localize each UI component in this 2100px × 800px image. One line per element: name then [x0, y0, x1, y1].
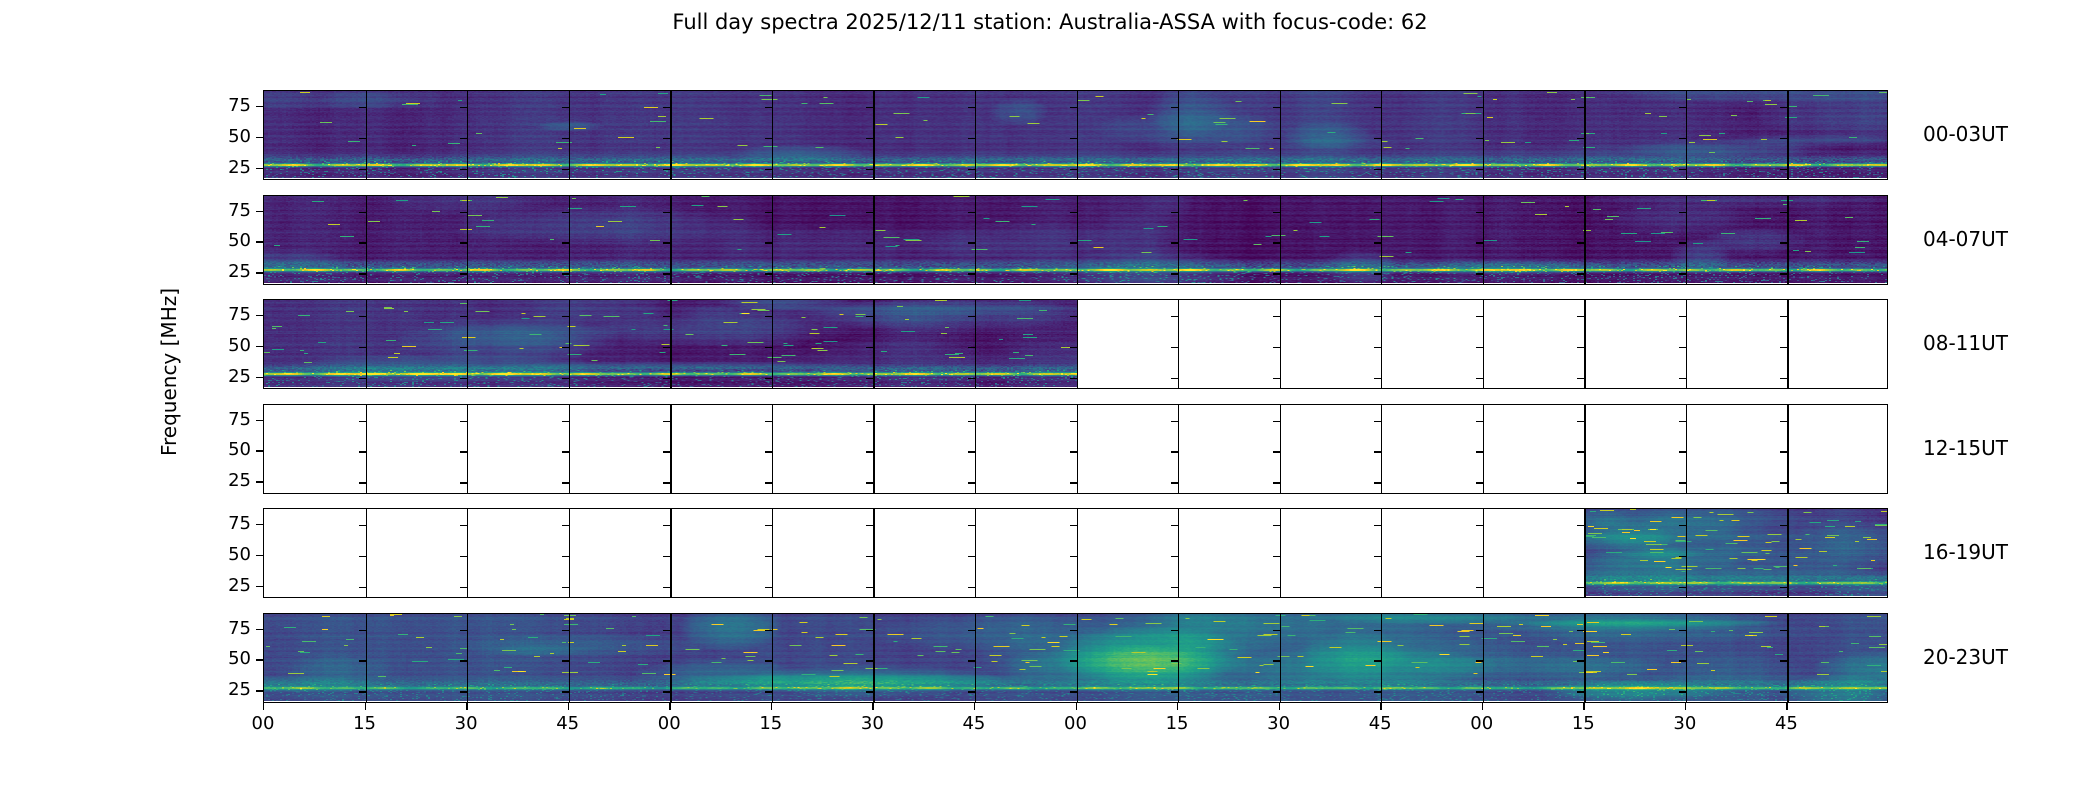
- y-tick-mark-inner: [460, 169, 467, 170]
- y-tick-label: 50: [201, 335, 251, 356]
- y-tick-mark-inner: [663, 525, 670, 526]
- y-tick-mark-inner: [866, 421, 873, 422]
- y-tick-mark: [256, 272, 263, 273]
- panel-separator: [670, 405, 671, 493]
- y-tick-mark-inner: [968, 556, 975, 557]
- y-tick-mark-inner: [765, 660, 772, 661]
- y-tick-mark-inner: [1374, 482, 1381, 483]
- spectrogram-row-04-07ut[interactable]: [263, 195, 1888, 285]
- y-tick-mark: [256, 629, 263, 630]
- y-tick-mark-inner: [1679, 660, 1686, 661]
- y-tick-mark-inner: [359, 273, 366, 274]
- panel-separator: [772, 509, 773, 597]
- y-tick-mark-inner: [866, 451, 873, 452]
- y-tick-mark-inner: [765, 378, 772, 379]
- y-tick-mark-inner: [1679, 378, 1686, 379]
- panel-separator: [1381, 196, 1382, 284]
- y-tick-mark-inner: [562, 242, 569, 243]
- panel-separator: [467, 91, 468, 179]
- y-tick-mark-inner: [359, 482, 366, 483]
- y-tick-mark-inner: [359, 316, 366, 317]
- x-tick-mark: [974, 703, 975, 710]
- panel-separator: [1280, 91, 1281, 179]
- panel-separator: [467, 509, 468, 597]
- y-tick-mark-inner: [1273, 347, 1280, 348]
- y-tick-mark-inner: [562, 525, 569, 526]
- y-tick-mark-inner: [1679, 587, 1686, 588]
- y-tick-mark-inner: [765, 556, 772, 557]
- y-tick-mark-inner: [1679, 169, 1686, 170]
- panel-separator: [569, 614, 570, 702]
- y-tick-mark-inner: [866, 378, 873, 379]
- y-tick-label: 75: [201, 618, 251, 639]
- y-tick-mark-inner: [1577, 421, 1584, 422]
- y-tick-mark-inner: [968, 273, 975, 274]
- y-tick-mark-inner: [866, 482, 873, 483]
- panel-separator: [1686, 91, 1687, 179]
- panel-separator: [975, 91, 976, 179]
- y-tick-mark-inner: [460, 630, 467, 631]
- panel-separator: [975, 509, 976, 597]
- y-tick-mark-inner: [1273, 138, 1280, 139]
- x-tick-label: 00: [233, 713, 293, 734]
- y-tick-mark-inner: [562, 347, 569, 348]
- panel-separator: [467, 196, 468, 284]
- panel-separator: [569, 300, 570, 388]
- y-tick-mark-inner: [1171, 138, 1178, 139]
- y-tick-mark-inner: [1780, 242, 1787, 243]
- x-tick-label: 45: [538, 713, 598, 734]
- y-tick-mark-inner: [968, 378, 975, 379]
- panel-separator: [873, 614, 874, 702]
- panel-separator: [1280, 614, 1281, 702]
- y-tick-mark-inner: [1171, 691, 1178, 692]
- y-tick-mark-inner: [1374, 273, 1381, 274]
- panel-separator: [1483, 91, 1484, 179]
- y-tick-mark-inner: [663, 556, 670, 557]
- y-tick-mark-inner: [1070, 587, 1077, 588]
- y-tick-mark-inner: [1171, 630, 1178, 631]
- panel-separator: [1381, 509, 1382, 597]
- y-tick-mark-inner: [866, 107, 873, 108]
- panel-separator: [1178, 405, 1179, 493]
- spectrogram-row-20-23ut[interactable]: [263, 613, 1888, 703]
- y-tick-mark-inner: [460, 587, 467, 588]
- y-tick-mark-inner: [663, 378, 670, 379]
- panel-separator: [1686, 509, 1687, 597]
- panel-separator: [1787, 614, 1788, 702]
- y-tick-label: 25: [201, 157, 251, 178]
- row-label-20-23ut: 20-23UT: [1923, 645, 2008, 669]
- y-tick-mark: [256, 106, 263, 107]
- y-tick-mark-inner: [1273, 242, 1280, 243]
- panel-separator: [670, 509, 671, 597]
- x-tick-label: 15: [1553, 713, 1613, 734]
- y-tick-mark-inner: [562, 378, 569, 379]
- x-tick-mark: [1482, 703, 1483, 710]
- panel-separator: [1584, 196, 1585, 284]
- panel-separator: [873, 91, 874, 179]
- y-tick-mark-inner: [1476, 691, 1483, 692]
- panel-separator: [873, 405, 874, 493]
- y-tick-mark-inner: [1374, 347, 1381, 348]
- y-tick-mark-inner: [1476, 107, 1483, 108]
- panel-separator: [1787, 405, 1788, 493]
- y-tick-mark-inner: [1780, 630, 1787, 631]
- y-tick-mark-inner: [866, 587, 873, 588]
- y-tick-mark-inner: [1374, 107, 1381, 108]
- y-tick-mark-inner: [460, 421, 467, 422]
- plot-area[interactable]: [263, 613, 1888, 703]
- y-tick-mark-inner: [1577, 138, 1584, 139]
- y-tick-mark-inner: [1476, 169, 1483, 170]
- y-tick-mark-inner: [1780, 587, 1787, 588]
- y-tick-mark-inner: [1070, 212, 1077, 213]
- plot-area[interactable]: [263, 299, 1888, 389]
- y-tick-mark-inner: [1476, 556, 1483, 557]
- y-tick-mark-inner: [765, 273, 772, 274]
- panel-separator: [1077, 300, 1078, 388]
- y-tick-mark-inner: [359, 660, 366, 661]
- y-tick-mark: [256, 659, 263, 660]
- y-tick-mark-inner: [1476, 525, 1483, 526]
- y-tick-mark-inner: [1577, 525, 1584, 526]
- panel-separator: [772, 300, 773, 388]
- x-tick-mark: [568, 703, 569, 710]
- plot-area[interactable]: [263, 195, 1888, 285]
- panel-separator: [1686, 405, 1687, 493]
- y-tick-mark-inner: [1374, 169, 1381, 170]
- y-tick-mark-inner: [968, 587, 975, 588]
- y-tick-mark-inner: [460, 107, 467, 108]
- y-tick-mark-inner: [1171, 378, 1178, 379]
- panel-separator: [1280, 509, 1281, 597]
- y-tick-mark-inner: [968, 482, 975, 483]
- y-tick-mark-inner: [1171, 242, 1178, 243]
- y-tick-mark-inner: [1273, 169, 1280, 170]
- y-tick-mark-inner: [1070, 138, 1077, 139]
- y-tick-mark-inner: [1577, 212, 1584, 213]
- x-tick-label: 30: [1249, 713, 1309, 734]
- y-tick-mark-inner: [1070, 421, 1077, 422]
- row-label-16-19ut: 16-19UT: [1923, 540, 2008, 564]
- y-tick-mark-inner: [1273, 587, 1280, 588]
- y-tick-mark-inner: [1070, 630, 1077, 631]
- y-tick-mark-inner: [968, 660, 975, 661]
- panel-separator: [1381, 614, 1382, 702]
- panel-separator: [1280, 196, 1281, 284]
- panel-separator: [1483, 196, 1484, 284]
- y-tick-mark-inner: [1577, 587, 1584, 588]
- y-tick-label: 25: [201, 366, 251, 387]
- y-tick-mark-inner: [562, 138, 569, 139]
- panel-separator: [1483, 614, 1484, 702]
- y-tick-mark-inner: [866, 691, 873, 692]
- y-tick-mark-inner: [663, 482, 670, 483]
- y-tick-mark-inner: [359, 525, 366, 526]
- plot-area[interactable]: [263, 90, 1888, 180]
- y-tick-mark-inner: [1476, 347, 1483, 348]
- y-tick-mark-inner: [562, 421, 569, 422]
- y-tick-mark-inner: [562, 556, 569, 557]
- x-tick-label: 00: [1452, 713, 1512, 734]
- y-tick-label: 25: [201, 470, 251, 491]
- y-tick-mark-inner: [968, 107, 975, 108]
- y-tick-mark-inner: [1273, 556, 1280, 557]
- y-tick-mark-inner: [359, 630, 366, 631]
- y-tick-mark-inner: [460, 451, 467, 452]
- y-tick-label: 75: [201, 200, 251, 221]
- y-tick-mark-inner: [562, 169, 569, 170]
- y-tick-mark-inner: [1374, 691, 1381, 692]
- x-tick-mark: [1786, 703, 1787, 710]
- y-tick-mark-inner: [1273, 378, 1280, 379]
- y-tick-mark: [256, 168, 263, 169]
- y-tick-mark-inner: [663, 107, 670, 108]
- panel-separator: [975, 196, 976, 284]
- y-tick-mark-inner: [1577, 630, 1584, 631]
- panel-separator: [772, 196, 773, 284]
- y-tick-mark-inner: [1171, 107, 1178, 108]
- y-tick-mark-inner: [1476, 212, 1483, 213]
- panel-separator: [569, 509, 570, 597]
- panel-separator: [1584, 614, 1585, 702]
- x-tick-label: 00: [639, 713, 699, 734]
- y-tick-mark: [256, 315, 263, 316]
- spectrogram-row-08-11ut[interactable]: [263, 299, 1888, 389]
- panel-separator: [1178, 509, 1179, 597]
- y-tick-label: 50: [201, 126, 251, 147]
- y-tick-mark-inner: [460, 138, 467, 139]
- spectrogram-row-12-15ut[interactable]: [263, 404, 1888, 494]
- panel-separator: [1686, 196, 1687, 284]
- y-tick-mark-inner: [359, 242, 366, 243]
- y-tick-mark-inner: [460, 316, 467, 317]
- x-tick-label: 15: [335, 713, 395, 734]
- y-tick-label: 75: [201, 95, 251, 116]
- y-tick-mark-inner: [1679, 107, 1686, 108]
- plot-area[interactable]: [263, 508, 1888, 598]
- y-tick-mark-inner: [1374, 556, 1381, 557]
- y-tick-label: 50: [201, 439, 251, 460]
- y-axis-label: Frequency [MHz]: [157, 272, 181, 472]
- y-tick-mark-inner: [562, 316, 569, 317]
- y-tick-mark-inner: [1273, 630, 1280, 631]
- y-tick-mark-inner: [1476, 660, 1483, 661]
- y-tick-mark-inner: [1070, 378, 1077, 379]
- y-tick-mark-inner: [1273, 691, 1280, 692]
- y-tick-label: 75: [201, 304, 251, 325]
- y-tick-mark-inner: [1070, 347, 1077, 348]
- panel-separator: [1280, 405, 1281, 493]
- panel-separator: [1077, 614, 1078, 702]
- y-tick-mark-inner: [1780, 482, 1787, 483]
- spectrogram-image: [1584, 509, 1888, 596]
- x-tick-mark: [1076, 703, 1077, 710]
- spectrogram-row-16-19ut[interactable]: [263, 508, 1888, 598]
- y-tick-mark-inner: [866, 242, 873, 243]
- y-tick-mark-inner: [1070, 691, 1077, 692]
- y-tick-mark-inner: [1679, 242, 1686, 243]
- y-tick-mark-inner: [562, 691, 569, 692]
- y-tick-mark-inner: [1780, 378, 1787, 379]
- x-tick-mark: [365, 703, 366, 710]
- y-tick-mark-inner: [765, 525, 772, 526]
- panel-separator: [1280, 300, 1281, 388]
- y-tick-mark-inner: [866, 273, 873, 274]
- y-tick-mark-inner: [1171, 482, 1178, 483]
- y-tick-mark-inner: [1273, 316, 1280, 317]
- y-tick-label: 75: [201, 409, 251, 430]
- panel-separator: [975, 614, 976, 702]
- panel-separator: [1077, 509, 1078, 597]
- y-tick-mark-inner: [1679, 212, 1686, 213]
- x-tick-label: 45: [1350, 713, 1410, 734]
- y-tick-mark-inner: [1476, 482, 1483, 483]
- panel-separator: [1178, 196, 1179, 284]
- panel-separator: [1787, 196, 1788, 284]
- y-tick-mark-inner: [1070, 556, 1077, 557]
- y-tick-mark-inner: [765, 107, 772, 108]
- y-tick-mark-inner: [1171, 660, 1178, 661]
- plot-area[interactable]: [263, 404, 1888, 494]
- x-tick-mark: [1685, 703, 1686, 710]
- y-tick-mark: [256, 420, 263, 421]
- y-tick-mark-inner: [765, 242, 772, 243]
- panel-separator: [1178, 91, 1179, 179]
- y-tick-mark: [256, 137, 263, 138]
- y-tick-mark-inner: [765, 347, 772, 348]
- y-tick-mark-inner: [1679, 316, 1686, 317]
- y-tick-mark-inner: [359, 347, 366, 348]
- y-tick-label: 25: [201, 261, 251, 282]
- y-tick-mark-inner: [1273, 273, 1280, 274]
- y-tick-mark-inner: [1476, 378, 1483, 379]
- x-tick-label: 15: [1147, 713, 1207, 734]
- y-tick-mark-inner: [1780, 556, 1787, 557]
- y-tick-mark-inner: [968, 212, 975, 213]
- y-tick-mark-inner: [1679, 421, 1686, 422]
- panel-separator: [1381, 91, 1382, 179]
- y-tick-mark-inner: [1577, 691, 1584, 692]
- y-tick-mark-inner: [1577, 107, 1584, 108]
- y-tick-mark-inner: [1070, 242, 1077, 243]
- y-tick-mark-inner: [1374, 138, 1381, 139]
- y-tick-mark-inner: [1577, 347, 1584, 348]
- y-tick-mark-inner: [562, 451, 569, 452]
- x-tick-mark: [771, 703, 772, 710]
- y-tick-mark-inner: [460, 660, 467, 661]
- y-tick-mark: [256, 346, 263, 347]
- y-tick-mark-inner: [1171, 316, 1178, 317]
- y-tick-mark-inner: [1476, 316, 1483, 317]
- y-tick-mark-inner: [1780, 421, 1787, 422]
- y-tick-label: 25: [201, 679, 251, 700]
- x-tick-mark: [466, 703, 467, 710]
- y-tick-label: 50: [201, 544, 251, 565]
- y-tick-mark-inner: [1070, 107, 1077, 108]
- y-tick-label: 50: [201, 648, 251, 669]
- y-tick-mark-inner: [460, 242, 467, 243]
- panel-separator: [366, 405, 367, 493]
- y-tick-mark-inner: [1374, 587, 1381, 588]
- x-tick-mark: [669, 703, 670, 710]
- y-tick-mark-inner: [663, 273, 670, 274]
- y-tick-mark-inner: [1780, 525, 1787, 526]
- y-tick-mark-inner: [866, 347, 873, 348]
- panel-separator: [873, 196, 874, 284]
- y-tick-mark-inner: [1171, 556, 1178, 557]
- y-tick-mark-inner: [765, 587, 772, 588]
- y-tick-mark: [256, 377, 263, 378]
- y-tick-mark: [256, 690, 263, 691]
- panel-separator: [670, 196, 671, 284]
- y-tick-mark: [256, 450, 263, 451]
- y-tick-mark-inner: [663, 587, 670, 588]
- y-tick-mark-inner: [1374, 525, 1381, 526]
- y-tick-mark-inner: [1273, 660, 1280, 661]
- x-tick-label: 45: [1756, 713, 1816, 734]
- y-tick-mark-inner: [1476, 630, 1483, 631]
- y-tick-mark-inner: [765, 482, 772, 483]
- y-tick-mark-inner: [1679, 556, 1686, 557]
- x-tick-label: 30: [1655, 713, 1715, 734]
- y-tick-mark-inner: [968, 451, 975, 452]
- y-tick-mark: [256, 555, 263, 556]
- y-tick-mark-inner: [1577, 273, 1584, 274]
- y-tick-mark-inner: [663, 660, 670, 661]
- y-tick-mark-inner: [1780, 212, 1787, 213]
- panel-separator: [1584, 91, 1585, 179]
- y-tick-mark-inner: [1070, 169, 1077, 170]
- panel-separator: [772, 91, 773, 179]
- spectrogram-row-00-03ut[interactable]: [263, 90, 1888, 180]
- y-tick-mark-inner: [1070, 273, 1077, 274]
- y-tick-mark-inner: [1780, 169, 1787, 170]
- y-tick-mark-inner: [1577, 482, 1584, 483]
- x-tick-label: 30: [436, 713, 496, 734]
- y-tick-mark-inner: [359, 587, 366, 588]
- y-tick-mark-inner: [1273, 525, 1280, 526]
- x-tick-label: 15: [741, 713, 801, 734]
- y-tick-mark: [256, 241, 263, 242]
- y-tick-mark-inner: [663, 451, 670, 452]
- y-tick-mark-inner: [359, 212, 366, 213]
- y-tick-mark-inner: [765, 138, 772, 139]
- y-tick-mark-inner: [1780, 691, 1787, 692]
- panel-separator: [366, 91, 367, 179]
- y-tick-mark-inner: [968, 691, 975, 692]
- y-tick-mark-inner: [1577, 556, 1584, 557]
- y-tick-mark-inner: [1171, 451, 1178, 452]
- y-tick-mark-inner: [1780, 347, 1787, 348]
- y-tick-mark-inner: [866, 138, 873, 139]
- panel-separator: [1077, 196, 1078, 284]
- panel-separator: [467, 405, 468, 493]
- row-label-12-15ut: 12-15UT: [1923, 436, 2008, 460]
- y-tick-mark: [256, 211, 263, 212]
- y-tick-mark-inner: [1476, 273, 1483, 274]
- y-tick-mark-inner: [765, 691, 772, 692]
- panel-separator: [772, 405, 773, 493]
- y-tick-mark-inner: [1374, 451, 1381, 452]
- panel-separator: [1483, 300, 1484, 388]
- y-tick-mark-inner: [765, 630, 772, 631]
- panel-separator: [366, 300, 367, 388]
- y-tick-mark-inner: [1374, 378, 1381, 379]
- panel-separator: [975, 300, 976, 388]
- y-tick-mark-inner: [562, 482, 569, 483]
